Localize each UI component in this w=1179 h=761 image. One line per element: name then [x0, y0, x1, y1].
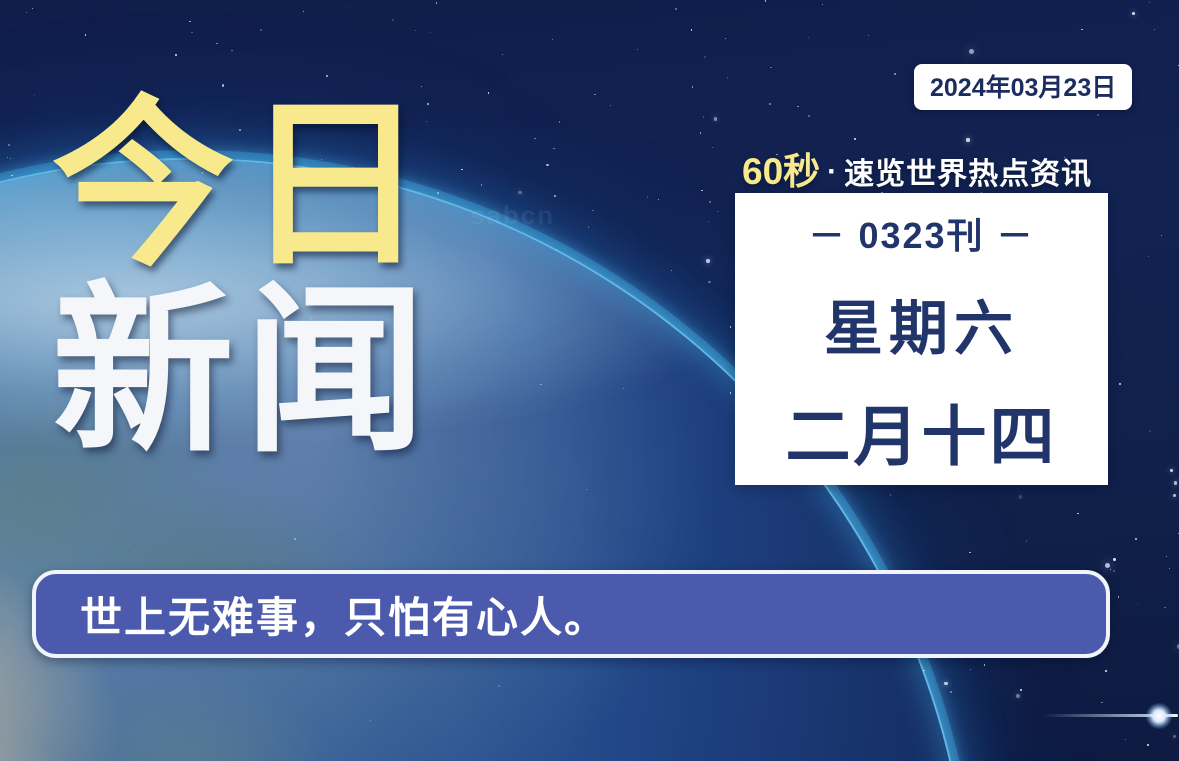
bright-star-icon	[1146, 703, 1172, 729]
date-badge: 2024年03月23日	[914, 64, 1132, 110]
issue-number: － 0323刊 －	[808, 207, 1034, 259]
news-poster: sabcn 今日 新闻 2024年03月23日 60秒 · 速览世界热点资讯 －…	[0, 0, 1179, 761]
watermark-text: sabcn	[470, 200, 555, 231]
page-title-line-1: 今日	[52, 96, 436, 274]
lunar-date-label: 二月十四	[785, 384, 1057, 478]
subtitle-seconds: 60秒	[742, 141, 820, 195]
subtitle-description: 速览世界热点资讯	[844, 149, 1092, 193]
subtitle-row: 60秒 · 速览世界热点资讯	[742, 141, 1092, 195]
page-title: 今日 新闻	[52, 96, 436, 461]
subtitle-separator-icon: ·	[827, 155, 837, 189]
quote-banner: 世上无难事，只怕有心人。	[32, 570, 1110, 658]
info-card: － 0323刊 － 星期六 二月十四	[735, 193, 1108, 485]
page-title-line-2: 新闻	[52, 282, 436, 460]
weekday-label: 星期六	[824, 281, 1019, 366]
